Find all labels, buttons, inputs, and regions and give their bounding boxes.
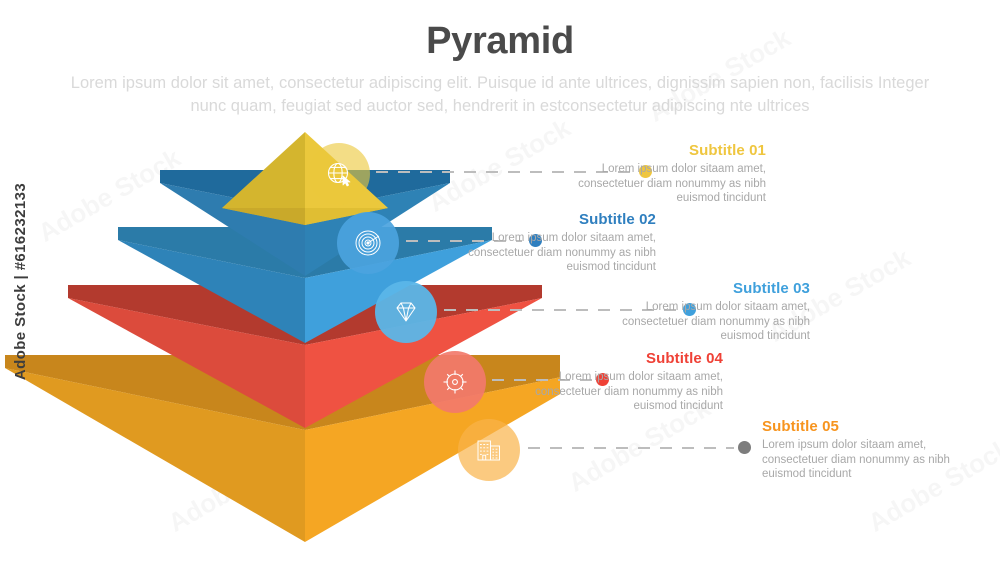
callout-text-01: Subtitle 01 Lorem ipsum dolor sitaam ame…: [551, 142, 766, 206]
callout-body-01: Lorem ipsum dolor sitaam amet, consectet…: [551, 162, 766, 206]
icon-circle-04[interactable]: [424, 351, 486, 413]
globe-cursor-icon: [324, 159, 354, 189]
callout-heading-05: Subtitle 05: [762, 418, 977, 435]
callout-heading-02: Subtitle 02: [441, 211, 656, 228]
buildings-icon: [473, 434, 505, 466]
pyramid-graphic: [0, 130, 560, 560]
callout-heading-03: Subtitle 03: [595, 280, 810, 297]
page-title: Pyramid: [0, 20, 1000, 63]
infographic-canvas: Adobe Stock Adobe Stock Adobe Stock Adob…: [0, 0, 1000, 563]
icon-circle-03[interactable]: [375, 281, 437, 343]
callout-text-03: Subtitle 03 Lorem ipsum dolor sitaam ame…: [595, 280, 810, 344]
connector-line-05: [528, 447, 734, 449]
connector-dot-05: [738, 441, 751, 454]
radar-target-icon: [352, 227, 384, 259]
icon-circle-02[interactable]: [337, 212, 399, 274]
page-subtitle: Lorem ipsum dolor sit amet, consectetur …: [60, 72, 940, 118]
callout-body-02: Lorem ipsum dolor sitaam amet, consectet…: [441, 231, 656, 275]
diamond-icon: [391, 297, 421, 327]
callout-heading-01: Subtitle 01: [551, 142, 766, 159]
callout-heading-04: Subtitle 04: [508, 350, 723, 367]
callout-text-05: Subtitle 05 Lorem ipsum dolor sitaam ame…: [762, 418, 977, 482]
callout-text-02: Subtitle 02 Lorem ipsum dolor sitaam ame…: [441, 211, 656, 275]
callout-text-04: Subtitle 04 Lorem ipsum dolor sitaam ame…: [508, 350, 723, 414]
callout-body-04: Lorem ipsum dolor sitaam amet, consectet…: [508, 370, 723, 414]
icon-circle-01[interactable]: [308, 143, 370, 205]
crosshair-icon: [440, 367, 470, 397]
icon-circle-05[interactable]: [458, 419, 520, 481]
callout-body-03: Lorem ipsum dolor sitaam amet, consectet…: [595, 300, 810, 344]
callout-body-05: Lorem ipsum dolor sitaam amet, consectet…: [762, 438, 977, 482]
